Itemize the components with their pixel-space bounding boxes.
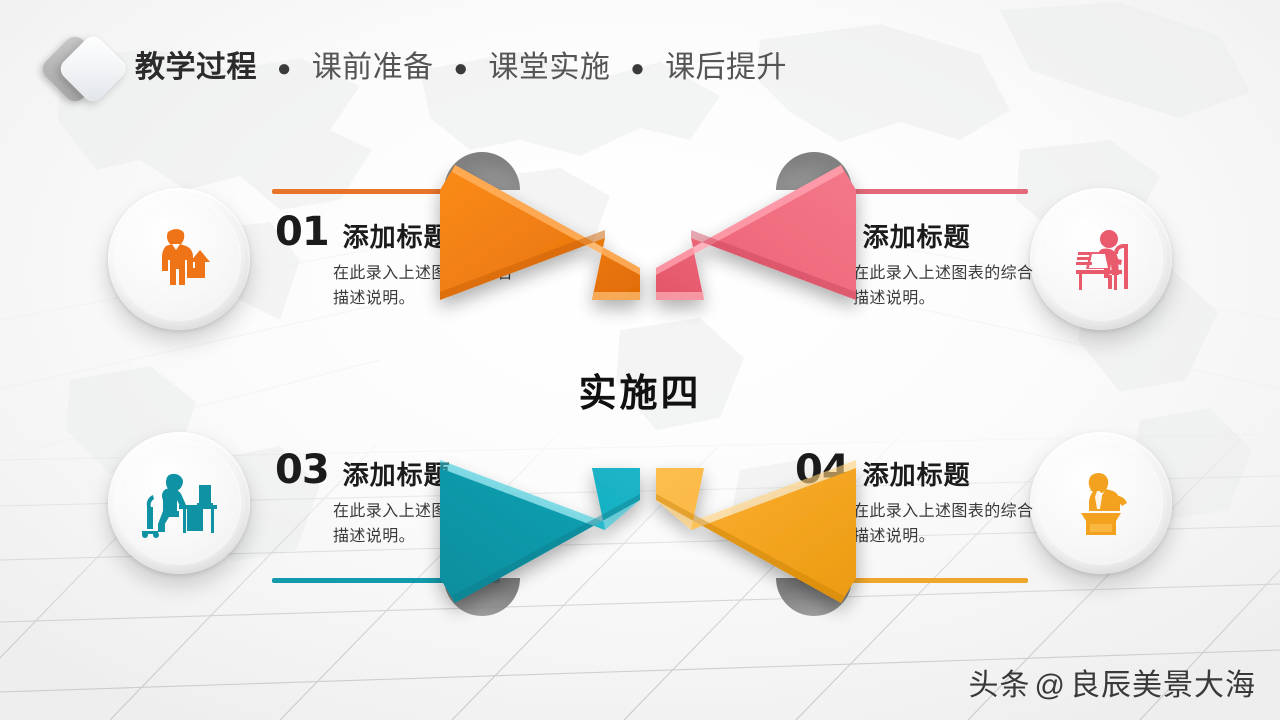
header-title-part-3: 课后提升 xyxy=(665,51,787,84)
info-block-04: 04 添加标题 在此录入上述图表的综合描述说明。 xyxy=(795,450,1039,549)
header-separator-1: ● xyxy=(277,47,292,91)
block-number-01: 01 xyxy=(275,212,329,252)
person-office-chair-computer-icon xyxy=(139,465,219,541)
header-title-strong: 教学过程 xyxy=(135,51,257,84)
block-description-04: 在此录入上述图表的综合描述说明。 xyxy=(853,499,1039,549)
block-number-02: 02 xyxy=(795,212,849,252)
businessman-growth-arrow-icon xyxy=(142,222,216,296)
watermark-platform: 头条 xyxy=(969,669,1031,702)
header-separator-2: ● xyxy=(454,47,469,91)
header-title-part-1: 课前准备 xyxy=(312,51,434,84)
icon-circle-04[interactable] xyxy=(1030,432,1172,574)
block-title-04: 添加标题 xyxy=(863,460,971,490)
watermark-account: 良辰美景大海 xyxy=(1070,669,1256,702)
slide-canvas: 教学过程 ● 课前准备 ● 课堂实施 ● 课后提升 xyxy=(0,0,1280,720)
connector-line-03 xyxy=(272,578,500,583)
block-description-02: 在此录入上述图表的综合描述说明。 xyxy=(853,261,1039,311)
info-block-01: 01 添加标题 在此录入上述图表的综合描述说明。 xyxy=(275,212,519,311)
info-block-02: 02 添加标题 在此录入上述图表的综合描述说明。 xyxy=(795,212,1039,311)
connector-line-04 xyxy=(800,578,1028,583)
info-block-03: 03 添加标题 在此录入上述图表的综合描述说明。 xyxy=(275,450,519,549)
block-number-04: 04 xyxy=(795,450,849,490)
block-description-03: 在此录入上述图表的综合描述说明。 xyxy=(333,499,519,549)
block-header-04: 04 添加标题 xyxy=(795,450,1039,490)
block-title-02: 添加标题 xyxy=(863,222,971,252)
icon-circle-02[interactable] xyxy=(1030,188,1172,330)
watermark: 头条@良辰美景大海 xyxy=(969,660,1256,704)
icon-circle-01[interactable] xyxy=(108,188,250,330)
diamond-logo-icon xyxy=(47,36,143,108)
block-title-03: 添加标题 xyxy=(343,460,451,490)
connector-line-02 xyxy=(800,189,1028,194)
watermark-at-symbol: @ xyxy=(1035,669,1066,702)
header-separator-3: ● xyxy=(630,47,645,91)
block-header-02: 02 添加标题 xyxy=(795,212,1039,252)
header-title-part-2: 课堂实施 xyxy=(488,51,610,84)
block-description-01: 在此录入上述图表的综合描述说明。 xyxy=(333,261,519,311)
block-number-03: 03 xyxy=(275,450,329,490)
connector-line-01 xyxy=(272,189,500,194)
speaker-podium-icon xyxy=(1063,467,1139,539)
icon-circle-03[interactable] xyxy=(108,432,250,574)
slide-header: 教学过程 ● 课前准备 ● 课堂实施 ● 课后提升 xyxy=(0,0,1280,120)
person-at-desk-laptop-icon xyxy=(1062,222,1140,296)
block-header-03: 03 添加标题 xyxy=(275,450,519,490)
block-header-01: 01 添加标题 xyxy=(275,212,519,252)
block-title-01: 添加标题 xyxy=(343,222,451,252)
center-title: 实施四 xyxy=(0,362,1280,417)
page-title: 教学过程 ● 课前准备 ● 课堂实施 ● 课后提升 xyxy=(135,46,787,91)
